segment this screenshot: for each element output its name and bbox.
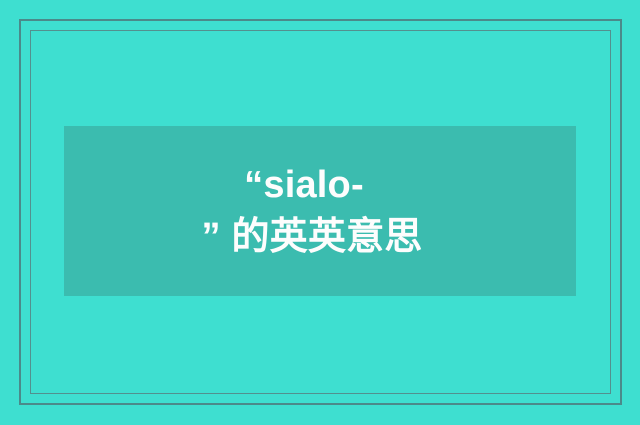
title-line-1: “sialo- xyxy=(244,159,364,211)
title-text-block: “sialo- ” 的英英意思 xyxy=(64,126,576,296)
thumbnail-canvas: “sialo- ” 的英英意思 xyxy=(0,0,640,425)
title-panel: “sialo- ” 的英英意思 xyxy=(64,126,576,296)
title-line-2: ” 的英英意思 xyxy=(202,211,423,263)
